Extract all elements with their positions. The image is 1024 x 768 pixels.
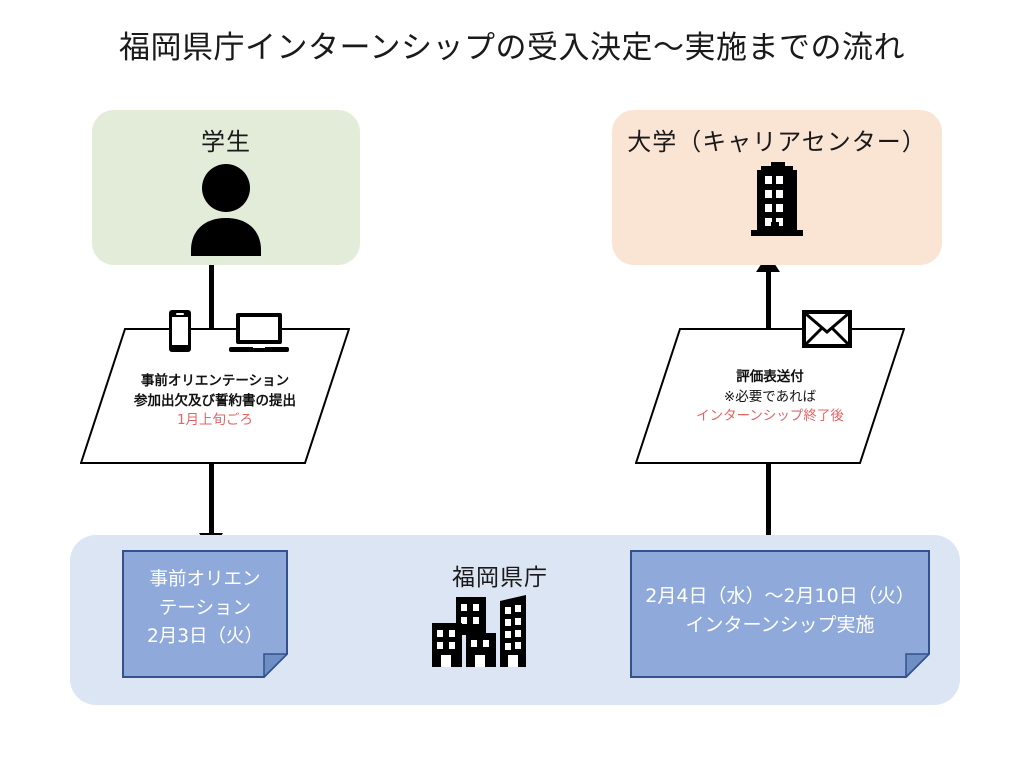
note-internship: 2月4日（水）～2月10日（火） インターンシップ実施 [630, 550, 930, 678]
office-building-icon [612, 160, 942, 238]
doc-line: 事前オリエンテーション [80, 372, 350, 392]
document-evaluation-send: 評価表送付 ※必要であれば インターンシップ終了後 [635, 328, 905, 464]
actor-panel-student: 学生 [92, 110, 360, 265]
actor-label-student: 学生 [92, 122, 360, 157]
note-orientation: 事前オリエン テーション 2月3日（火） [122, 550, 288, 678]
note-line: 2月4日（水）～2月10日（火） [630, 582, 930, 611]
actor-label-prefecture: 福岡県庁 [400, 558, 600, 592]
doc-line: 参加出欠及び誓約書の提出 [80, 392, 350, 412]
doc-line: インターンシップ終了後 [635, 407, 905, 427]
city-buildings-icon [430, 595, 530, 671]
document-evaluation-text: 評価表送付 ※必要であれば インターンシップ終了後 [635, 368, 905, 427]
note-internship-text: 2月4日（水）～2月10日（火） インターンシップ実施 [630, 582, 930, 641]
note-orientation-text: 事前オリエン テーション 2月3日（火） [122, 566, 288, 652]
document-orientation-submit: 事前オリエンテーション 参加出欠及び誓約書の提出 1月上旬ごろ [80, 328, 350, 464]
laptop-icon [228, 312, 290, 358]
note-line: インターンシップ実施 [630, 611, 930, 640]
person-icon [92, 160, 360, 256]
doc-line: 1月上旬ごろ [80, 411, 350, 431]
smartphone-icon [168, 309, 192, 357]
actor-label-university: 大学（キャリアセンター） [612, 122, 942, 157]
note-line: 2月3日（火） [122, 623, 288, 652]
envelope-icon [801, 309, 853, 353]
note-line: テーション [122, 595, 288, 624]
connector-document-to-orientation-note [209, 455, 214, 540]
actor-panel-university: 大学（キャリアセンター） [612, 110, 942, 265]
document-orientation-text: 事前オリエンテーション 参加出欠及び誓約書の提出 1月上旬ごろ [80, 372, 350, 431]
page-title: 福岡県庁インターンシップの受入決定～実施までの流れ [0, 30, 1024, 67]
note-line: 事前オリエン [122, 566, 288, 595]
doc-line: ※必要であれば [635, 388, 905, 408]
diagram-canvas: 福岡県庁インターンシップの受入決定～実施までの流れ 学生 大学（キャリアセンター… [0, 0, 1024, 768]
doc-line: 評価表送付 [635, 368, 905, 388]
